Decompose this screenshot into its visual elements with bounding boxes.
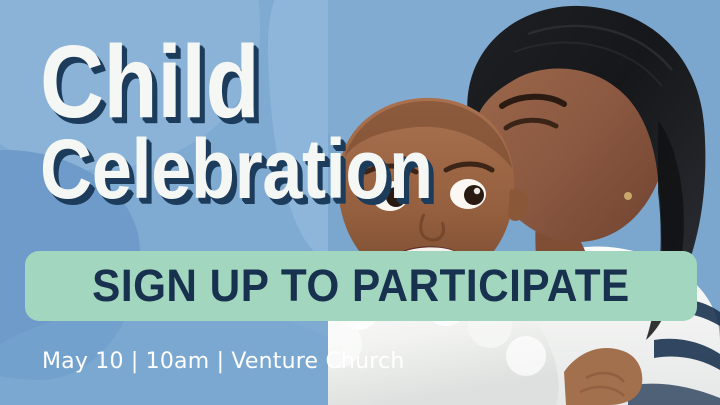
poster-headline: Child Celebration [40,38,497,205]
event-details: May 10 | 10am | Venture Church [42,349,405,374]
cta-label: SIGN UP TO PARTICIPATE [92,260,630,312]
promotional-poster: Child Celebration SIGN UP TO PARTICIPATE… [0,0,720,405]
headline-line-2: Celebration [40,133,433,205]
headline-line-1: Child [40,38,433,127]
sign-up-cta-banner[interactable]: SIGN UP TO PARTICIPATE [25,251,697,321]
